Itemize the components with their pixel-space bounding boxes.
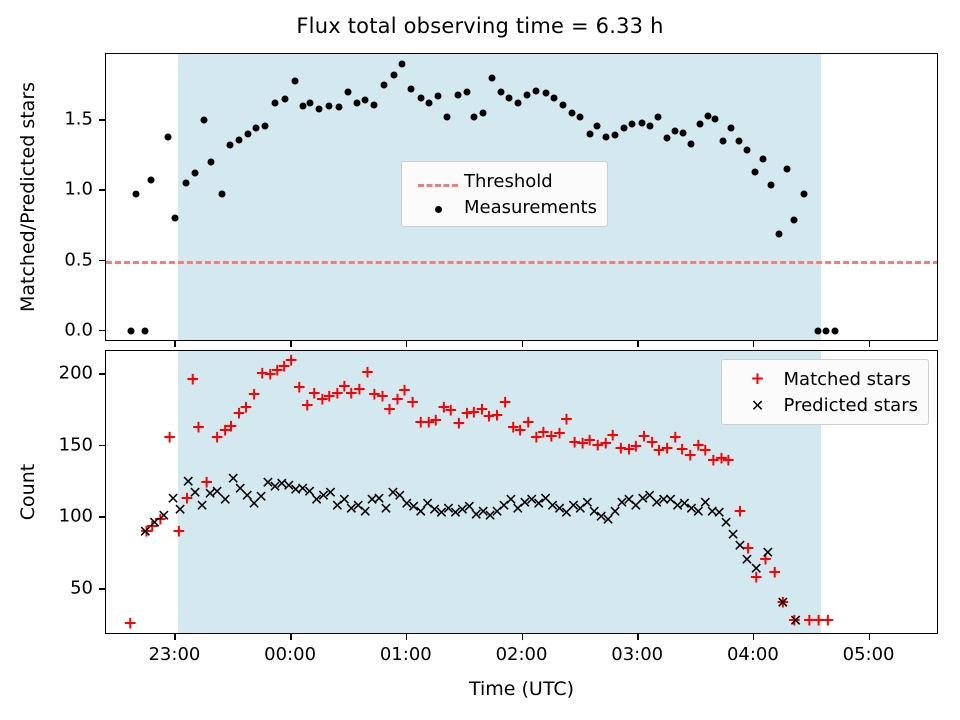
matched-star-point: + xyxy=(186,371,200,388)
x-tick-label: 05:00 xyxy=(843,644,895,665)
matched-star-point: + xyxy=(163,430,177,447)
predicted-star-point: ✕ xyxy=(379,501,392,517)
measurement-point xyxy=(497,88,504,95)
measurement-point xyxy=(768,181,775,188)
y-tick-label: 1.0 xyxy=(64,179,93,200)
predicted-star-point: ✕ xyxy=(173,502,186,518)
x-tick-label: 23:00 xyxy=(148,644,200,665)
matched-star-point: + xyxy=(247,387,261,404)
measurement-point xyxy=(612,132,619,139)
matched-star-point: + xyxy=(821,612,835,629)
measurement-point xyxy=(629,121,636,128)
predicted-star-point: ✕ xyxy=(157,508,170,524)
x-tick-mark xyxy=(753,341,755,347)
measurement-point xyxy=(315,105,322,112)
measurement-point xyxy=(444,114,451,121)
measurement-point xyxy=(711,115,718,122)
legend-top: Threshold Measurements xyxy=(401,161,608,227)
legend-item-measurements: Measurements xyxy=(412,194,597,220)
measurement-point xyxy=(326,102,333,109)
measurement-point xyxy=(128,327,135,334)
measurement-point xyxy=(696,121,703,128)
plus-marker-icon: + xyxy=(732,369,784,389)
predicted-star-point: ✕ xyxy=(761,545,774,561)
y-tick-label: 100 xyxy=(59,506,93,527)
measurement-point xyxy=(593,122,600,129)
cross-marker-icon: ✕ xyxy=(732,396,784,415)
y-tick-mark xyxy=(99,373,105,375)
predicted-star-point: ✕ xyxy=(749,561,762,577)
measurement-point xyxy=(672,128,679,135)
measurement-point xyxy=(735,138,742,145)
matched-star-point: + xyxy=(172,523,186,540)
x-tick-mark xyxy=(637,341,639,347)
y-tick-mark xyxy=(99,260,105,262)
measurement-point xyxy=(514,100,521,107)
measurement-point xyxy=(218,191,225,198)
predicted-star-point: ✕ xyxy=(776,595,789,611)
matched-star-point: + xyxy=(559,411,573,428)
measurement-point xyxy=(602,133,609,140)
measurement-point xyxy=(454,91,461,98)
y-tick-mark xyxy=(99,189,105,191)
x-tick-mark xyxy=(174,634,176,640)
measurement-point xyxy=(417,94,424,101)
measurement-point xyxy=(760,156,767,163)
measurement-point xyxy=(550,94,557,101)
measurement-point xyxy=(335,104,342,111)
x-tick-label: 04:00 xyxy=(727,644,779,665)
measurement-point xyxy=(236,136,243,143)
legend-label-threshold: Threshold xyxy=(464,171,553,192)
y-tick-label: 50 xyxy=(70,578,93,599)
measurement-point xyxy=(688,140,695,147)
y-tick-mark xyxy=(99,119,105,121)
x-tick-mark xyxy=(753,634,755,640)
x-tick-mark xyxy=(522,341,524,347)
x-tick-label: 02:00 xyxy=(496,644,548,665)
measurement-point xyxy=(133,191,140,198)
measurement-point xyxy=(391,72,398,79)
y-tick-label: 200 xyxy=(59,362,93,383)
y-tick-label: 1.5 xyxy=(64,109,93,130)
measurement-point xyxy=(704,112,711,119)
matched-star-point: + xyxy=(352,381,366,398)
measurement-point xyxy=(435,93,442,100)
measurement-point xyxy=(148,177,155,184)
measurement-point xyxy=(559,101,566,108)
measurement-point xyxy=(245,131,252,138)
measurement-point xyxy=(814,327,821,334)
y-tick-mark xyxy=(99,445,105,447)
y-axis-label-top: Matched/Predicted stars xyxy=(17,82,39,312)
measurement-point xyxy=(586,131,593,138)
legend-item-predicted-stars: ✕ Predicted stars xyxy=(732,392,918,418)
measurement-point xyxy=(261,122,268,129)
y-tick-mark xyxy=(99,588,105,590)
x-tick-mark xyxy=(869,634,871,640)
measurement-point xyxy=(165,133,172,140)
chart-title: Flux total observing time = 6.33 h xyxy=(0,14,960,38)
x-tick-label: 03:00 xyxy=(611,644,663,665)
measurement-point xyxy=(271,100,278,107)
measurement-point xyxy=(408,86,415,93)
measurement-point xyxy=(463,88,470,95)
measurement-point xyxy=(201,117,208,124)
x-tick-mark xyxy=(290,341,292,347)
measurement-point xyxy=(524,91,531,98)
y-tick-mark xyxy=(99,516,105,518)
y-tick-label: 0.0 xyxy=(64,319,93,340)
x-tick-mark xyxy=(174,341,176,347)
legend-bottom: + Matched stars ✕ Predicted stars xyxy=(721,359,929,425)
measurement-point xyxy=(505,94,512,101)
measurement-point xyxy=(822,327,829,334)
matched-star-point: + xyxy=(191,420,205,437)
measurement-point xyxy=(253,125,260,132)
x-tick-mark xyxy=(290,634,292,640)
measurement-point xyxy=(142,327,149,334)
legend-label-matched-stars: Matched stars xyxy=(784,369,911,390)
matched-star-point: + xyxy=(284,353,298,370)
legend-label-predicted-stars: Predicted stars xyxy=(784,395,918,416)
legend-item-matched-stars: + Matched stars xyxy=(732,366,918,392)
measurement-point xyxy=(282,95,289,102)
measurement-point xyxy=(362,97,369,104)
measurement-point xyxy=(638,119,645,126)
measurement-point xyxy=(776,230,783,237)
legend-label-measurements: Measurements xyxy=(464,197,597,218)
matched-star-point: + xyxy=(768,565,782,582)
measurement-point xyxy=(489,74,496,81)
measurement-point xyxy=(192,170,199,177)
measurement-point xyxy=(172,215,179,222)
measurement-point xyxy=(727,125,734,132)
measurement-point xyxy=(354,100,361,107)
measurement-point xyxy=(680,129,687,136)
measurement-point xyxy=(299,102,306,109)
measurement-point xyxy=(569,110,576,117)
measurement-point xyxy=(371,101,378,108)
x-tick-mark xyxy=(869,341,871,347)
matched-star-point: + xyxy=(360,364,374,381)
measurement-point xyxy=(800,191,807,198)
bottom-panel-counts: ++++++++++++++++++++++++++++++++++++++++… xyxy=(105,350,938,634)
dashed-line-icon xyxy=(412,172,464,191)
y-tick-label: 0.5 xyxy=(64,249,93,270)
measurement-point xyxy=(380,81,387,88)
measurement-point xyxy=(719,138,726,145)
measurement-point xyxy=(208,159,215,166)
measurement-point xyxy=(470,114,477,121)
measurement-point xyxy=(533,87,540,94)
x-tick-mark xyxy=(406,341,408,347)
x-axis-label: Time (UTC) xyxy=(469,678,574,700)
measurement-point xyxy=(743,146,750,153)
measurement-point xyxy=(542,90,549,97)
y-tick-label: 150 xyxy=(59,434,93,455)
measurement-point xyxy=(621,125,628,132)
y-tick-mark xyxy=(99,330,105,332)
measurement-point xyxy=(306,100,313,107)
x-tick-mark xyxy=(522,634,524,640)
measurement-point xyxy=(226,142,233,149)
threshold-line xyxy=(106,261,938,264)
legend-item-threshold: Threshold xyxy=(412,168,597,194)
measurement-point xyxy=(425,100,432,107)
x-tick-mark xyxy=(637,634,639,640)
measurement-point xyxy=(646,122,653,129)
matched-star-point: + xyxy=(498,394,512,411)
matched-star-point: + xyxy=(733,503,747,520)
measurement-point xyxy=(831,327,838,334)
measurement-point xyxy=(480,110,487,117)
x-tick-label: 00:00 xyxy=(264,644,316,665)
x-tick-mark xyxy=(406,634,408,640)
predicted-star-point: ✕ xyxy=(218,492,231,508)
measurement-point xyxy=(664,135,671,142)
matched-star-point: + xyxy=(721,453,735,470)
measurement-point xyxy=(791,216,798,223)
measurement-point xyxy=(344,88,351,95)
measurement-point xyxy=(752,169,759,176)
measurement-point xyxy=(291,77,298,84)
dot-marker-icon xyxy=(412,198,464,217)
x-tick-label: 01:00 xyxy=(380,644,432,665)
measurement-point xyxy=(654,114,661,121)
top-panel-ratio: Threshold Measurements xyxy=(105,53,938,341)
measurement-point xyxy=(577,114,584,121)
measurement-point xyxy=(784,166,791,173)
measurement-point xyxy=(399,60,406,67)
measurement-point xyxy=(182,180,189,187)
predicted-star-point: ✕ xyxy=(789,613,802,629)
y-axis-label-bottom: Count xyxy=(17,464,39,520)
matched-star-point: + xyxy=(123,615,137,632)
matched-star-point: + xyxy=(405,394,419,411)
